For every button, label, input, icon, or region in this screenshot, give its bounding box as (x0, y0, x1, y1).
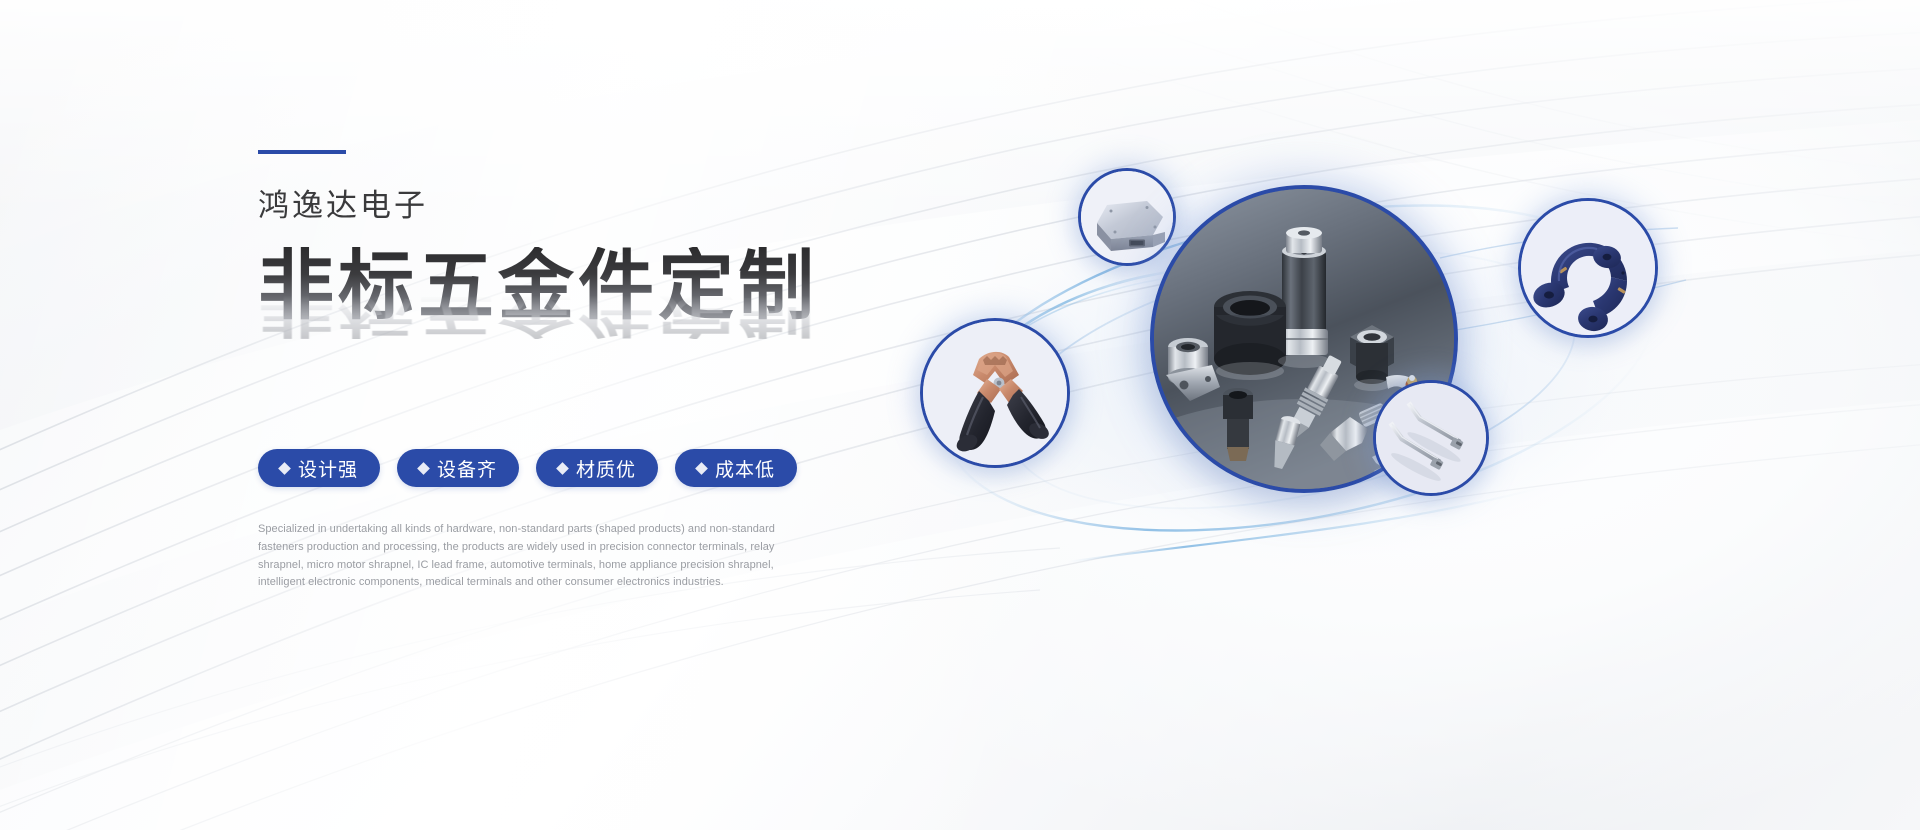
feature-badge-material[interactable]: 材质优 (536, 449, 658, 487)
feature-badge-equipment[interactable]: 设备齐 (397, 449, 519, 487)
product-bubble-bent-terminal-pins[interactable] (1373, 380, 1489, 496)
feature-badge-label: 材质优 (576, 455, 636, 482)
product-bubble-metal-shield-enclosure[interactable] (1078, 168, 1176, 266)
diamond-icon (556, 462, 569, 475)
feature-badge-list: 设计强 设备齐 材质优 成本低 (258, 449, 878, 487)
headline-block: 非标五金件定制 非标五金件定制 (258, 247, 878, 397)
feature-badge-label: 成本低 (715, 455, 775, 482)
company-description: Specialized in undertaking all kinds of … (258, 521, 816, 592)
diamond-icon (695, 462, 708, 475)
hero-banner: 鸿逸达电子 非标五金件定制 非标五金件定制 设计强 设备齐 材质优 成本低 (0, 0, 1920, 830)
product-bubble-blue-retaining-clip[interactable] (1518, 198, 1658, 338)
brand-name: 鸿逸达电子 (258, 190, 878, 221)
product-bubble-copper-battery-clamp[interactable] (920, 318, 1070, 468)
feature-badge-label: 设计强 (298, 455, 358, 482)
feature-badge-cost[interactable]: 成本低 (675, 449, 797, 487)
feature-badge-label: 设备齐 (437, 455, 497, 482)
diamond-icon (278, 462, 291, 475)
product-composition (900, 140, 1690, 620)
diamond-icon (417, 462, 430, 475)
feature-badge-design[interactable]: 设计强 (258, 449, 380, 487)
accent-rule-divider (258, 150, 346, 154)
hero-text-column: 鸿逸达电子 非标五金件定制 非标五金件定制 设计强 设备齐 材质优 成本低 (258, 150, 878, 603)
page-title-reflection: 非标五金件定制 (258, 290, 818, 339)
